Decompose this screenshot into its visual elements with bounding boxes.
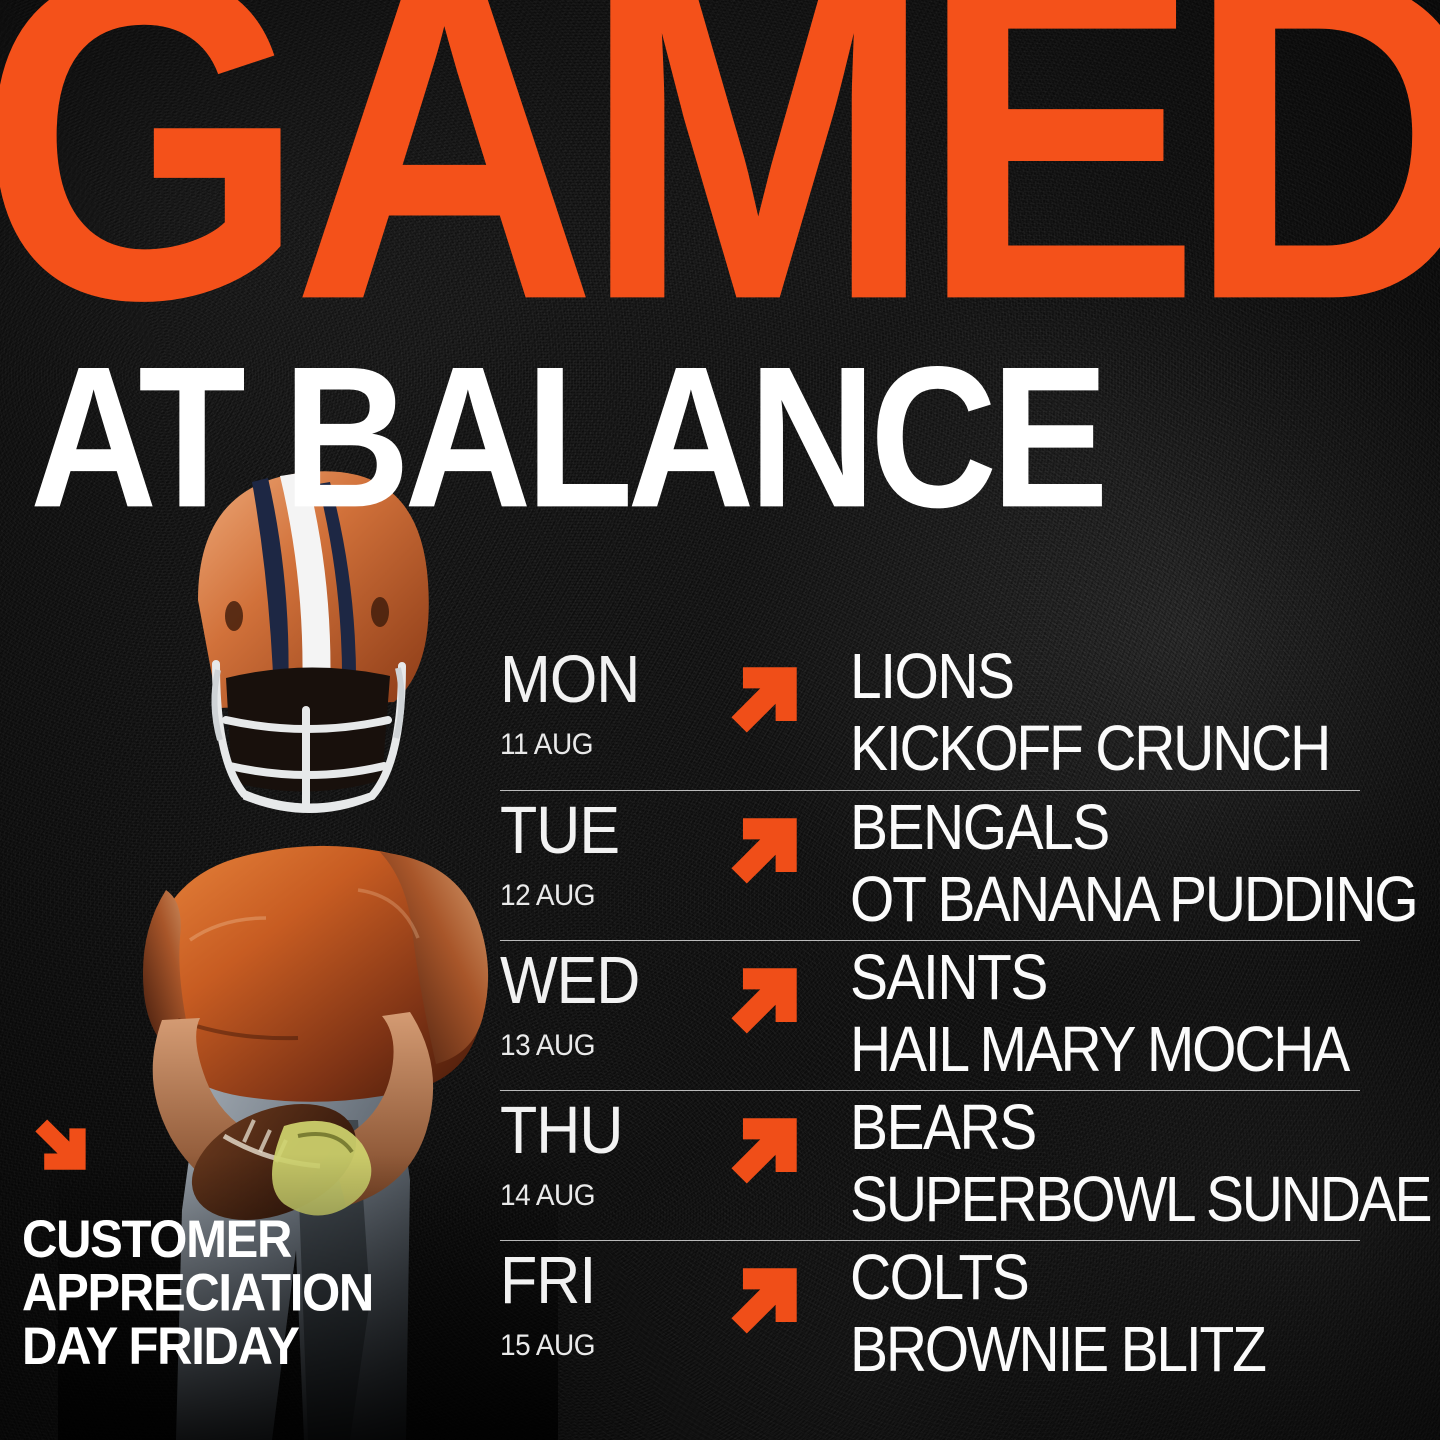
day-label: MON — [500, 648, 718, 710]
day-label: TUE — [500, 799, 718, 861]
schedule-row[interactable]: THU 14 AUG BEARS SUPERBOWL SUNDAE — [500, 1090, 1360, 1240]
special-item: OT BANANA PUDDING — [850, 867, 1360, 932]
customer-appreciation-block: CUSTOMER APPRECIATION DAY FRIDAY — [22, 1118, 462, 1364]
special-item: SUPERBOWL SUNDAE — [850, 1167, 1360, 1232]
schedule-row[interactable]: WED 13 AUG SAINTS HAIL MARY MOCHA — [500, 940, 1360, 1090]
arrow-column — [718, 941, 850, 1052]
info-column: BEARS SUPERBOWL SUNDAE — [850, 1091, 1360, 1225]
date-label: 13 AUG — [500, 1031, 718, 1060]
arrow-up-right-icon — [718, 650, 814, 746]
schedule-row[interactable]: MON 11 AUG LIONS KICKOFF CRUNCH — [500, 640, 1360, 790]
arrow-up-right-icon — [718, 951, 814, 1047]
arrow-down-left-icon — [22, 1118, 96, 1192]
arrow-column — [718, 1241, 850, 1352]
special-item: HAIL MARY MOCHA — [850, 1017, 1360, 1082]
day-column: THU 14 AUG — [500, 1091, 718, 1209]
info-column: BENGALS OT BANANA PUDDING — [850, 791, 1360, 925]
page-subtitle: AT BALANCE — [30, 355, 1103, 520]
promo-line-1: CUSTOMER — [22, 1214, 462, 1267]
arrow-up-right-icon — [718, 1101, 814, 1197]
promo-line-2: APPRECIATION — [22, 1267, 462, 1320]
date-label: 14 AUG — [500, 1181, 718, 1210]
special-item: BROWNIE BLITZ — [850, 1317, 1360, 1382]
promo-text: CUSTOMER APPRECIATION DAY FRIDAY — [22, 1214, 462, 1374]
team-name: SAINTS — [850, 945, 1360, 1010]
day-label: FRI — [500, 1249, 718, 1311]
info-column: COLTS BROWNIE BLITZ — [850, 1241, 1360, 1375]
info-column: SAINTS HAIL MARY MOCHA — [850, 941, 1360, 1075]
date-label: 11 AUG — [500, 730, 718, 759]
arrow-column — [718, 640, 850, 751]
gameday-poster: GAMEDAY — [0, 0, 1440, 1440]
day-column: FRI 15 AUG — [500, 1241, 718, 1359]
schedule-row[interactable]: FRI 15 AUG COLTS BROWNIE BLITZ — [500, 1240, 1360, 1390]
date-label: 12 AUG — [500, 881, 718, 910]
day-column: WED 13 AUG — [500, 941, 718, 1059]
day-label: WED — [500, 949, 718, 1011]
arrow-up-right-icon — [718, 1251, 814, 1347]
date-label: 15 AUG — [500, 1331, 718, 1360]
schedule-row[interactable]: TUE 12 AUG BENGALS OT BANANA PUDDING — [500, 790, 1360, 940]
team-name: COLTS — [850, 1245, 1360, 1310]
arrow-column — [718, 791, 850, 902]
team-name: BEARS — [850, 1095, 1360, 1160]
schedule-list: MON 11 AUG LIONS KICKOFF CRUNCH TUE 12 A… — [500, 640, 1360, 1440]
info-column: LIONS KICKOFF CRUNCH — [850, 640, 1360, 774]
page-title: GAMEDAY — [0, 0, 1440, 318]
promo-line-3: DAY FRIDAY — [22, 1321, 462, 1374]
special-item: KICKOFF CRUNCH — [850, 716, 1360, 781]
day-column: TUE 12 AUG — [500, 791, 718, 909]
team-name: LIONS — [850, 644, 1360, 709]
day-label: THU — [500, 1099, 718, 1161]
arrow-column — [718, 1091, 850, 1202]
arrow-up-right-icon — [718, 801, 814, 897]
day-column: MON 11 AUG — [500, 640, 718, 758]
team-name: BENGALS — [850, 795, 1360, 860]
